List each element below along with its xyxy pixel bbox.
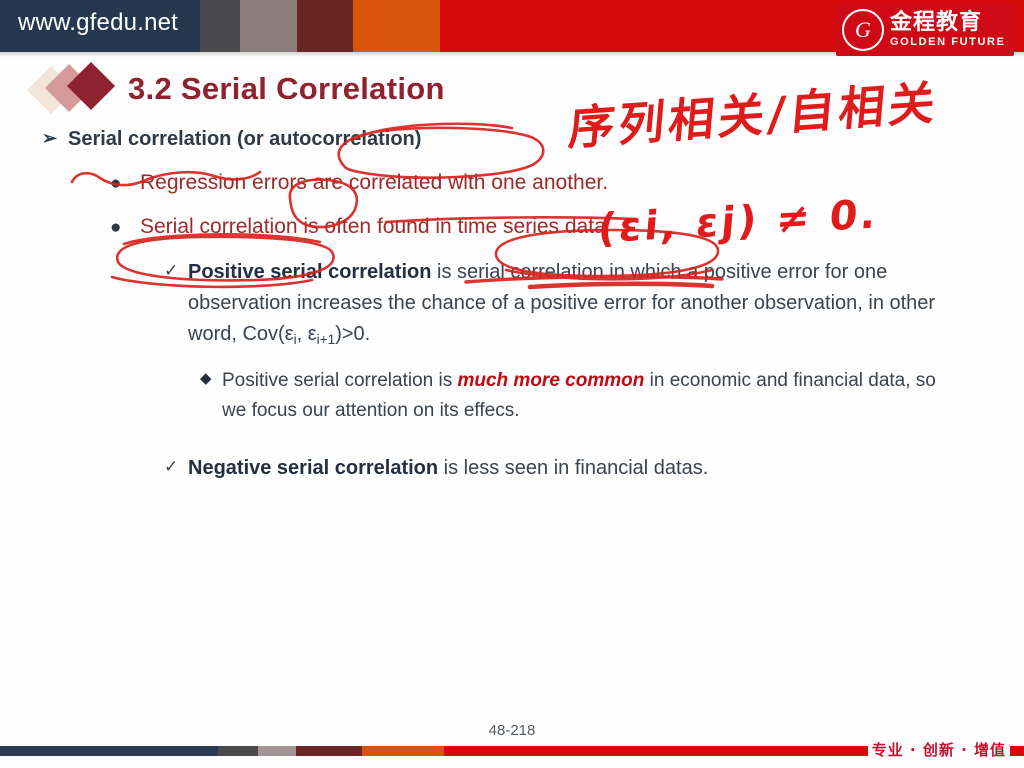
- footer-block-mauve: [258, 746, 296, 756]
- logo-name-en: GOLDEN FUTURE: [890, 37, 1006, 48]
- check-bullet-icon: ✓: [164, 258, 178, 284]
- diamond-lead-text: Positive serial correlation is: [222, 370, 457, 391]
- bullet-text: Regression errors are correlated with on…: [140, 171, 608, 194]
- logo-name-cn: 金程教育: [890, 12, 1006, 34]
- diamond-bullet-icon: ◆: [200, 367, 212, 391]
- negative-bold-lead: Negative serial correlation: [188, 457, 438, 479]
- positive-bold-lead: Positive serial correlation: [188, 261, 431, 283]
- brand-logo: G 金程教育 GOLDEN FUTURE: [836, 4, 1014, 56]
- header-block-darkgray: [200, 0, 240, 52]
- site-url: www.gfedu.net: [18, 9, 178, 37]
- check-bullet-icon: ✓: [164, 454, 178, 480]
- header-block-mauve: [240, 0, 297, 52]
- emphasis-much-more-common: much more common: [457, 370, 644, 391]
- slide-canvas: www.gfedu.net G 金程教育 GOLDEN FUTURE 3.2 S…: [0, 0, 1024, 768]
- heading-text: Serial correlation (or autocorrelation): [68, 128, 421, 150]
- page-title: 3.2 Serial Correlation: [128, 71, 445, 107]
- footer: 48-218 专业 · 创新 · 增值: [0, 722, 1024, 768]
- paragraph-negative-serial-correlation: ✓ Negative serial correlation is less se…: [188, 453, 948, 484]
- page-number: 48-218: [0, 722, 1024, 739]
- footer-block-orange: [362, 746, 444, 756]
- slide-content: ➢ Serial correlation (or autocorrelation…: [0, 128, 1024, 484]
- diamond-decoration-icon: [32, 65, 128, 113]
- positive-tail-text: )>0.: [335, 323, 370, 345]
- footer-block-navy: [0, 746, 218, 756]
- logo-seal-icon: G: [842, 9, 884, 51]
- negative-rest-text: is less seen in financial datas.: [438, 457, 708, 479]
- bullet-text: Serial correlation is often found in tim…: [140, 215, 606, 238]
- footer-block-darkgray: [218, 746, 258, 756]
- paragraph-much-more-common: ◆ Positive serial correlation is much mo…: [222, 366, 962, 427]
- round-bullet-icon: ●: [110, 173, 121, 195]
- header-block-maroon: [297, 0, 353, 52]
- header-block-orange: [353, 0, 440, 52]
- footer-tagline: 专业 · 创新 · 增值: [868, 739, 1010, 760]
- bullet-time-series: ● Serial correlation is often found in t…: [140, 215, 1024, 239]
- paragraph-positive-serial-correlation: ✓ Positive serial correlation is serial …: [188, 257, 948, 350]
- round-bullet-icon: ●: [110, 217, 121, 239]
- header-block-navy: www.gfedu.net: [0, 0, 200, 52]
- arrow-bullet-icon: ➢: [42, 128, 57, 149]
- title-row: 3.2 Serial Correlation: [32, 64, 445, 114]
- bullet-regression-errors: ● Regression errors are correlated with …: [140, 171, 1024, 195]
- epsilon-subscript-i-plus-1: i+1: [317, 332, 336, 347]
- positive-mid-text: , ε: [297, 323, 317, 345]
- footer-block-maroon: [296, 746, 362, 756]
